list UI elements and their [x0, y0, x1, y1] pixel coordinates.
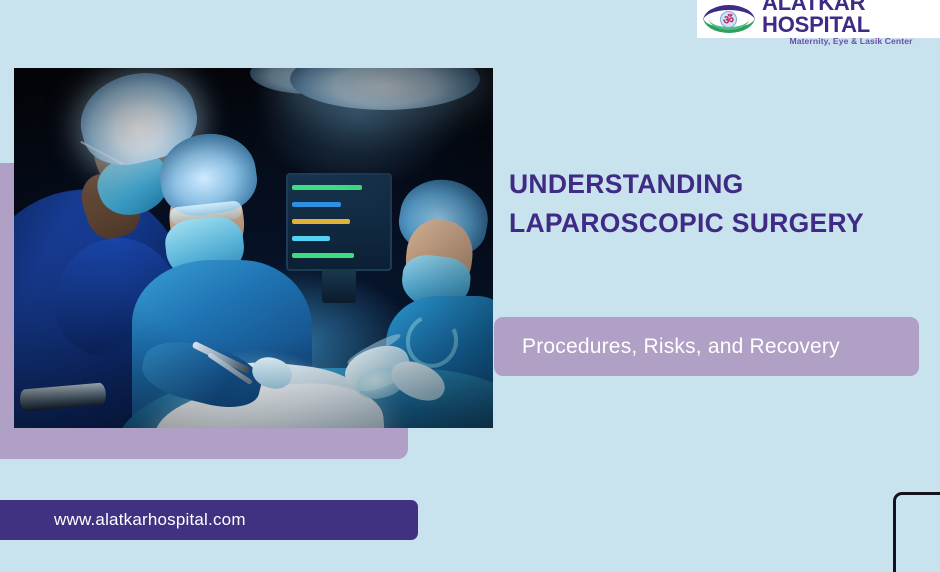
corner-frame-decoration	[893, 492, 940, 572]
page-title-line-2: LAPAROSCOPIC SURGERY	[509, 204, 929, 243]
subtitle-text: Procedures, Risks, and Recovery	[494, 335, 840, 359]
brand-logo: ॐ ALATKAR HOSPITAL Maternity, Eye & Lasi…	[697, 0, 940, 38]
hero-image	[14, 68, 493, 428]
brand-name: ALATKAR HOSPITAL	[762, 0, 940, 36]
website-url[interactable]: www.alatkarhospital.com	[0, 510, 246, 530]
photo-vignette	[14, 68, 493, 428]
page-title: UNDERSTANDING LAPAROSCOPIC SURGERY	[509, 165, 929, 243]
page-title-line-1: UNDERSTANDING	[509, 169, 744, 199]
brand-tagline: Maternity, Eye & Lasik Center	[762, 36, 940, 47]
operating-room-illustration	[14, 68, 493, 428]
eye-with-hands-logo-icon: ॐ	[701, 2, 757, 36]
logo-center-symbol: ॐ	[723, 14, 734, 26]
subtitle-banner: Procedures, Risks, and Recovery	[494, 317, 919, 376]
logo-eye-iris: ॐ	[720, 11, 737, 28]
website-banner[interactable]: www.alatkarhospital.com	[0, 500, 418, 540]
brand-text: ALATKAR HOSPITAL Maternity, Eye & Lasik …	[762, 0, 940, 47]
